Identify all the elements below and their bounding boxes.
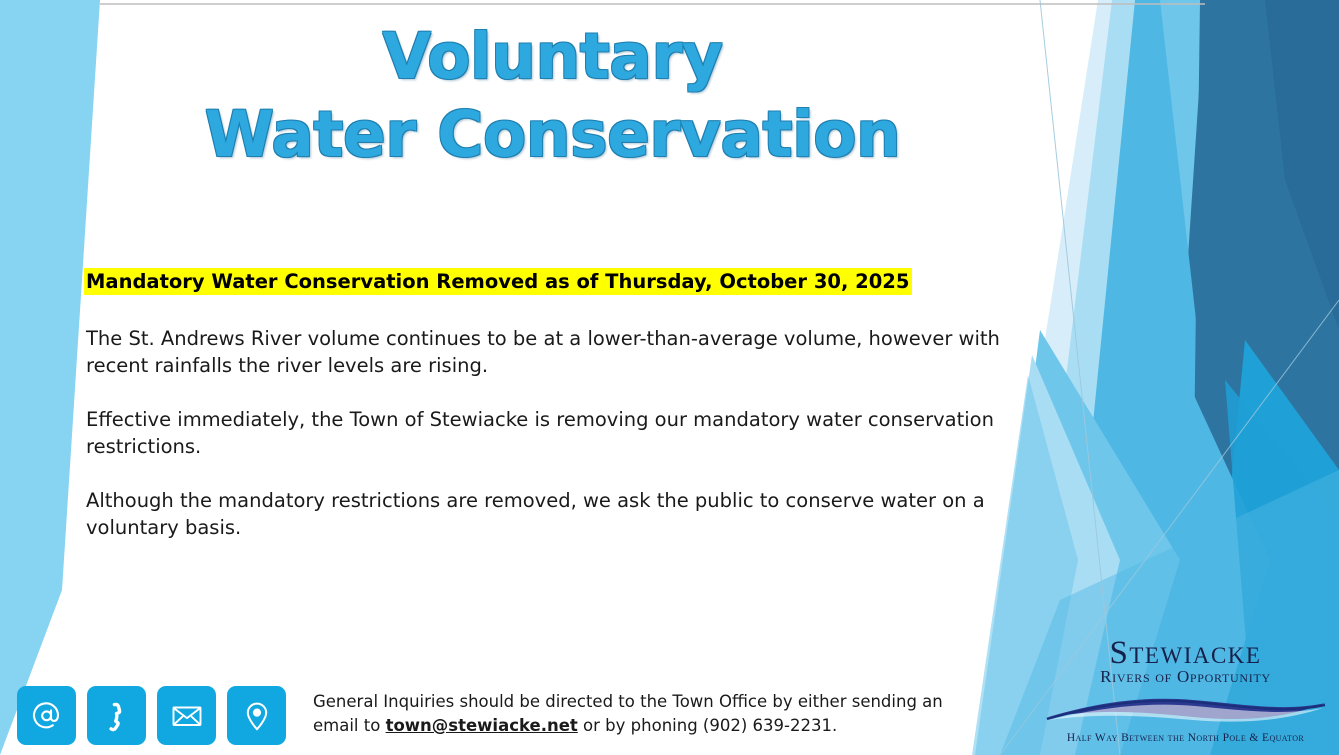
footer-text-after: or by phoning (902) 639-2231. (578, 716, 837, 735)
title-line-1: Voluntary (90, 18, 1015, 96)
slide: Voluntary Water Conservation Mandatory W… (0, 0, 1339, 755)
logo-subtitle: Half Way Between the North Pole & Equato… (1043, 732, 1328, 745)
envelope-icon (169, 698, 205, 734)
location-pin-icon-button[interactable] (227, 686, 286, 745)
logo-tagline: Rivers of Opportunity (1043, 668, 1328, 686)
phone-icon-button[interactable] (87, 686, 146, 745)
phone-icon (100, 699, 134, 733)
footer-contact-text: General Inquiries should be directed to … (313, 690, 953, 738)
paragraph-3: Although the mandatory restrictions are … (86, 487, 1036, 541)
paragraph-2: Effective immediately, the Town of Stewi… (86, 406, 1036, 460)
page-title: Voluntary Water Conservation (90, 18, 1015, 174)
headline-highlighted: Mandatory Water Conservation Removed as … (86, 268, 909, 295)
email-link[interactable]: town@stewiacke.net (386, 716, 578, 735)
contact-icon-row (17, 686, 286, 745)
title-line-2: Water Conservation (90, 96, 1015, 174)
town-logo: Stewiacke Rivers of Opportunity Half Way… (1043, 636, 1328, 748)
at-icon-button[interactable] (17, 686, 76, 745)
headline-row: Mandatory Water Conservation Removed as … (86, 266, 1036, 298)
logo-name: Stewiacke (1043, 636, 1328, 670)
location-pin-icon (240, 699, 274, 733)
body-content: Mandatory Water Conservation Removed as … (86, 266, 1036, 541)
at-icon (30, 699, 64, 733)
envelope-icon-button[interactable] (157, 686, 216, 745)
top-rule (100, 3, 1205, 5)
logo-wave-icon (1043, 690, 1328, 724)
left-wedge (0, 0, 100, 755)
paragraph-1: The St. Andrews River volume continues t… (86, 325, 1036, 379)
